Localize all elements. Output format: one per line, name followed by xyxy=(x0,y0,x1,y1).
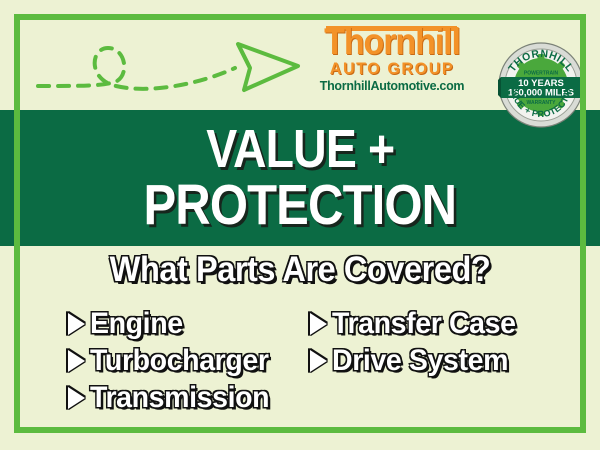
main-title: VALUE + PROTECTION xyxy=(0,110,600,246)
logo-brand-sub: AUTO GROUP xyxy=(320,60,464,77)
part-label: Transmission xyxy=(90,383,269,413)
banner-header: Thornhill AUTO GROUP ThornhillAutomotive… xyxy=(20,20,580,110)
triangle-right-icon xyxy=(68,350,85,372)
logo-website-url: ThornhillAutomotive.com xyxy=(316,80,468,93)
logo-brand-name: Thornhill xyxy=(322,24,462,59)
list-item: Transfer Case xyxy=(310,305,525,342)
triangle-right-icon xyxy=(68,387,85,409)
part-label: Engine xyxy=(90,309,183,339)
part-label: Drive System xyxy=(332,346,508,376)
title-line-2: PROTECTION xyxy=(144,178,457,234)
part-label: Transfer Case xyxy=(332,309,516,339)
list-item: Turbocharger xyxy=(68,342,279,379)
list-item: Engine xyxy=(68,305,279,342)
promo-banner: Thornhill AUTO GROUP ThornhillAutomotive… xyxy=(0,0,600,450)
list-item: Transmission xyxy=(68,379,279,416)
thornhill-logo: Thornhill AUTO GROUP ThornhillAutomotive… xyxy=(316,24,468,93)
triangle-right-icon xyxy=(310,350,327,372)
subhead-question: What Parts Are Covered? xyxy=(21,252,579,287)
triangle-right-icon xyxy=(68,313,85,335)
list-item: Drive System xyxy=(310,342,525,379)
title-line-1: VALUE + xyxy=(206,123,394,176)
badge-small-bottom: WARRANTY xyxy=(527,100,557,106)
parts-column-left: Engine Turbocharger Transmission xyxy=(68,305,279,416)
flight-path-decoration xyxy=(30,24,315,106)
part-label: Turbocharger xyxy=(90,346,269,376)
parts-column-right: Transfer Case Drive System xyxy=(310,305,525,379)
badge-small-top: POWERTRAIN xyxy=(524,71,559,77)
paper-plane-arrow-icon xyxy=(238,44,298,90)
triangle-right-icon xyxy=(310,313,327,335)
covered-parts-lists: Engine Turbocharger Transmission Transfe… xyxy=(20,305,580,420)
